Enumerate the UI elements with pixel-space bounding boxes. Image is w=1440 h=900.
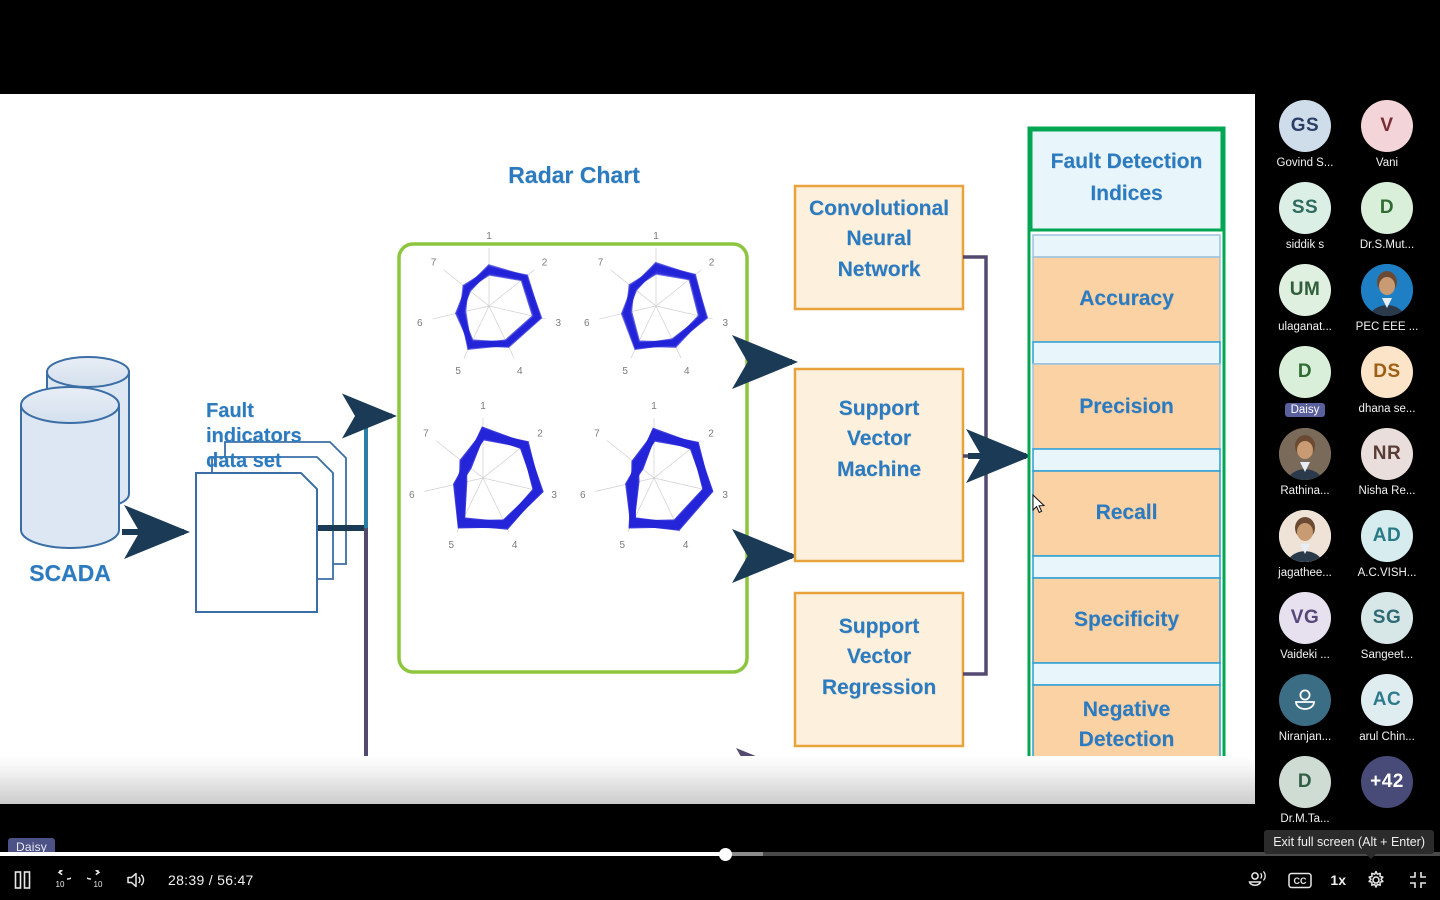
radar-axis-label: 1	[651, 401, 657, 412]
radar-axis-label: 7	[423, 428, 429, 439]
player-controls-bar: Daisy 10	[0, 824, 1440, 900]
participant-initials-avatar: SG	[1361, 592, 1413, 644]
radar-axis-label: 6	[417, 318, 423, 329]
radar-axis-label: 4	[683, 540, 689, 551]
player-controls-right: CC 1x	[1246, 868, 1430, 892]
participant-tile[interactable]: jagathee...	[1259, 510, 1351, 579]
indices-header-line-1: Fault Detection	[1033, 146, 1220, 178]
participant-tile[interactable]: DSdhana se...	[1341, 346, 1433, 415]
seek-bar-handle[interactable]	[719, 848, 732, 861]
participant-photo	[1279, 428, 1331, 480]
seek-bar-played	[0, 852, 726, 856]
participant-initials-avatar: D	[1361, 182, 1413, 234]
cnn-line-2: Neural	[800, 224, 958, 254]
dataset-line-2: indicators	[206, 424, 326, 449]
participant-tile[interactable]: DDr.S.Mut...	[1341, 182, 1433, 251]
participant-initials-avatar: D	[1279, 756, 1331, 808]
participants-rail[interactable]: GSGovind S...VVaniSSsiddik sDDr.S.Mut...…	[1255, 94, 1440, 824]
index-label-specificity: Specificity	[1033, 607, 1220, 633]
participant-photo-avatar	[1361, 264, 1413, 316]
participant-name: Dr.S.Mut...	[1341, 239, 1433, 251]
exit-fullscreen-button[interactable]	[1406, 868, 1430, 892]
participant-name: Niranjan...	[1259, 731, 1351, 743]
cnn-line-1: Convolutional	[800, 194, 958, 224]
radar-axis-label: 5	[620, 540, 626, 551]
forward-10-button[interactable]: 10	[86, 868, 110, 892]
svm-line-1: Support	[800, 394, 958, 424]
indices-header-line-2: Indices	[1033, 178, 1220, 210]
radar-axis-label: 4	[512, 540, 518, 551]
index-label-negative-detection: Negative Detection	[1033, 695, 1220, 756]
negative-detection-line-2: Detection	[1033, 725, 1220, 755]
volume-button[interactable]	[124, 868, 148, 892]
participant-initials-avatar: DS	[1361, 346, 1413, 398]
radar-axis-label: 3	[722, 490, 728, 501]
scada-label: SCADA	[20, 559, 120, 588]
participant-name: PEC EEE ...	[1341, 321, 1433, 333]
indices-header-label: Fault Detection Indices	[1033, 146, 1220, 209]
index-label-recall: Recall	[1033, 500, 1220, 526]
participant-tile[interactable]: ACarul Chin...	[1341, 674, 1433, 743]
participant-tile[interactable]: DDr.M.Ta...	[1259, 756, 1351, 825]
radar-axis-label: 7	[431, 258, 437, 269]
svg-text:10: 10	[56, 880, 65, 889]
radar-axis-label: 2	[709, 258, 715, 269]
participant-tile[interactable]: GSGovind S...	[1259, 100, 1351, 169]
participant-initials-avatar	[1279, 674, 1331, 726]
participant-tile[interactable]: VVani	[1341, 100, 1433, 169]
participant-initials-avatar: SS	[1279, 182, 1331, 234]
participant-tile[interactable]: PEC EEE ...	[1341, 264, 1433, 333]
cnn-label: Convolutional Neural Network	[800, 194, 958, 285]
radar-axis-label: 5	[455, 366, 461, 377]
radar-axis-label: 4	[684, 366, 690, 377]
participant-initials-avatar: AC	[1361, 674, 1413, 726]
participant-initials-avatar: VG	[1279, 592, 1331, 644]
participant-initials-avatar: D	[1279, 346, 1331, 398]
svm-line-2: Vector	[800, 424, 958, 454]
svg-text:10: 10	[94, 880, 103, 889]
participant-initials-avatar: V	[1361, 100, 1413, 152]
index-label-precision: Precision	[1033, 394, 1220, 420]
radar-axis-label: 3	[722, 318, 728, 329]
scada-database-icon	[21, 357, 129, 548]
radar-axis-label: 1	[653, 231, 659, 242]
radar-axis-label: 2	[537, 428, 543, 439]
dataset-line-3: data set	[206, 449, 326, 474]
playback-speed-button[interactable]: 1x	[1330, 872, 1346, 888]
player-controls-left: 10 10 28:39 / 56:47	[10, 868, 254, 892]
svm-line-3: Machine	[800, 455, 958, 485]
timecode-label: 28:39 / 56:47	[168, 872, 254, 888]
participant-name: siddik s	[1259, 239, 1351, 251]
negative-detection-line-1: Negative	[1033, 695, 1220, 725]
participant-tile[interactable]: VGVaideki ...	[1259, 592, 1351, 661]
participant-initials-avatar: GS	[1279, 100, 1331, 152]
participant-tile[interactable]: SGSangeet...	[1341, 592, 1433, 661]
svr-line-2: Vector	[800, 642, 958, 672]
cnn-line-3: Network	[800, 255, 958, 285]
svr-label: Support Vector Regression	[800, 612, 958, 703]
rewind-10-button[interactable]: 10	[48, 868, 72, 892]
svm-label: Support Vector Machine	[800, 394, 958, 485]
radar-axis-label: 2	[708, 428, 714, 439]
participant-tile[interactable]: Niranjan...	[1259, 674, 1351, 743]
participant-name: Daisy	[1285, 403, 1326, 417]
person-icon	[1290, 685, 1320, 715]
participant-name: dhana se...	[1341, 403, 1433, 415]
participant-name: arul Chin...	[1341, 731, 1433, 743]
radar-axis-label: 7	[598, 258, 604, 269]
dataset-line-1: Fault	[206, 399, 326, 424]
radar-axis-label: 5	[449, 540, 455, 551]
participant-name: ulaganat...	[1259, 321, 1351, 333]
radar-axis-label: 1	[486, 231, 492, 242]
svg-text:CC: CC	[1294, 876, 1307, 886]
radar-axis-label: 7	[594, 428, 600, 439]
participant-name: Rathina...	[1259, 485, 1351, 497]
participant-photo	[1361, 264, 1413, 316]
participant-name: Sangeet...	[1341, 649, 1433, 661]
participant-initials-avatar: AD	[1361, 510, 1413, 562]
slide-bottom-fade	[0, 756, 1255, 804]
participant-tile[interactable]: Rathina...	[1259, 428, 1351, 497]
radar-axis-label: 3	[551, 490, 557, 501]
svr-line-1: Support	[800, 612, 958, 642]
participant-name: Govind S...	[1259, 157, 1351, 169]
reactions-button[interactable]	[1246, 868, 1270, 892]
participant-tile[interactable]: DDaisy	[1259, 346, 1351, 422]
exit-fullscreen-tooltip: Exit full screen (Alt + Enter)	[1264, 830, 1434, 854]
participant-name: jagathee...	[1259, 567, 1351, 579]
radar-chart-title: Radar Chart	[454, 161, 694, 190]
participant-photo	[1279, 510, 1331, 562]
seek-bar[interactable]	[0, 852, 1440, 856]
radar-axis-label: 4	[517, 366, 523, 377]
captions-button[interactable]: CC	[1288, 868, 1312, 892]
dataset-label: Fault indicators data set	[206, 399, 326, 474]
participant-tile[interactable]: NRNisha Re...	[1341, 428, 1433, 497]
shared-screen-slide[interactable]: 1234567123456712345671234567	[0, 94, 1255, 804]
pause-button[interactable]	[10, 868, 34, 892]
radar-axis-label: 6	[409, 490, 415, 501]
settings-button[interactable]	[1364, 868, 1388, 892]
radar-axis-label: 6	[584, 318, 590, 329]
participant-photo-avatar	[1279, 510, 1331, 562]
participant-tile[interactable]: ADA.C.VISH...	[1341, 510, 1433, 579]
participant-overflow-tile[interactable]: +42	[1341, 756, 1433, 813]
radar-axis-label: 1	[480, 401, 486, 412]
participant-photo-avatar	[1279, 428, 1331, 480]
participant-name: Vani	[1341, 157, 1433, 169]
participant-name: A.C.VISH...	[1341, 567, 1433, 579]
participant-tile[interactable]: SSsiddik s	[1259, 182, 1351, 251]
radar-axis-label: 5	[622, 366, 628, 377]
participant-initials-avatar: +42	[1361, 756, 1413, 808]
svr-line-3: Regression	[800, 673, 958, 703]
radar-axis-label: 2	[542, 258, 548, 269]
video-player-app: 1234567123456712345671234567	[0, 0, 1440, 900]
arrow-models-to-indices	[963, 257, 1026, 674]
participant-tile[interactable]: UMulaganat...	[1259, 264, 1351, 333]
index-label-accuracy: Accuracy	[1033, 286, 1220, 312]
participant-name: Nisha Re...	[1341, 485, 1433, 497]
radar-axis-label: 6	[580, 490, 586, 501]
radar-axis-label: 3	[555, 318, 561, 329]
participant-name: Vaideki ...	[1259, 649, 1351, 661]
participant-initials-avatar: NR	[1361, 428, 1413, 480]
participant-initials-avatar: UM	[1279, 264, 1331, 316]
